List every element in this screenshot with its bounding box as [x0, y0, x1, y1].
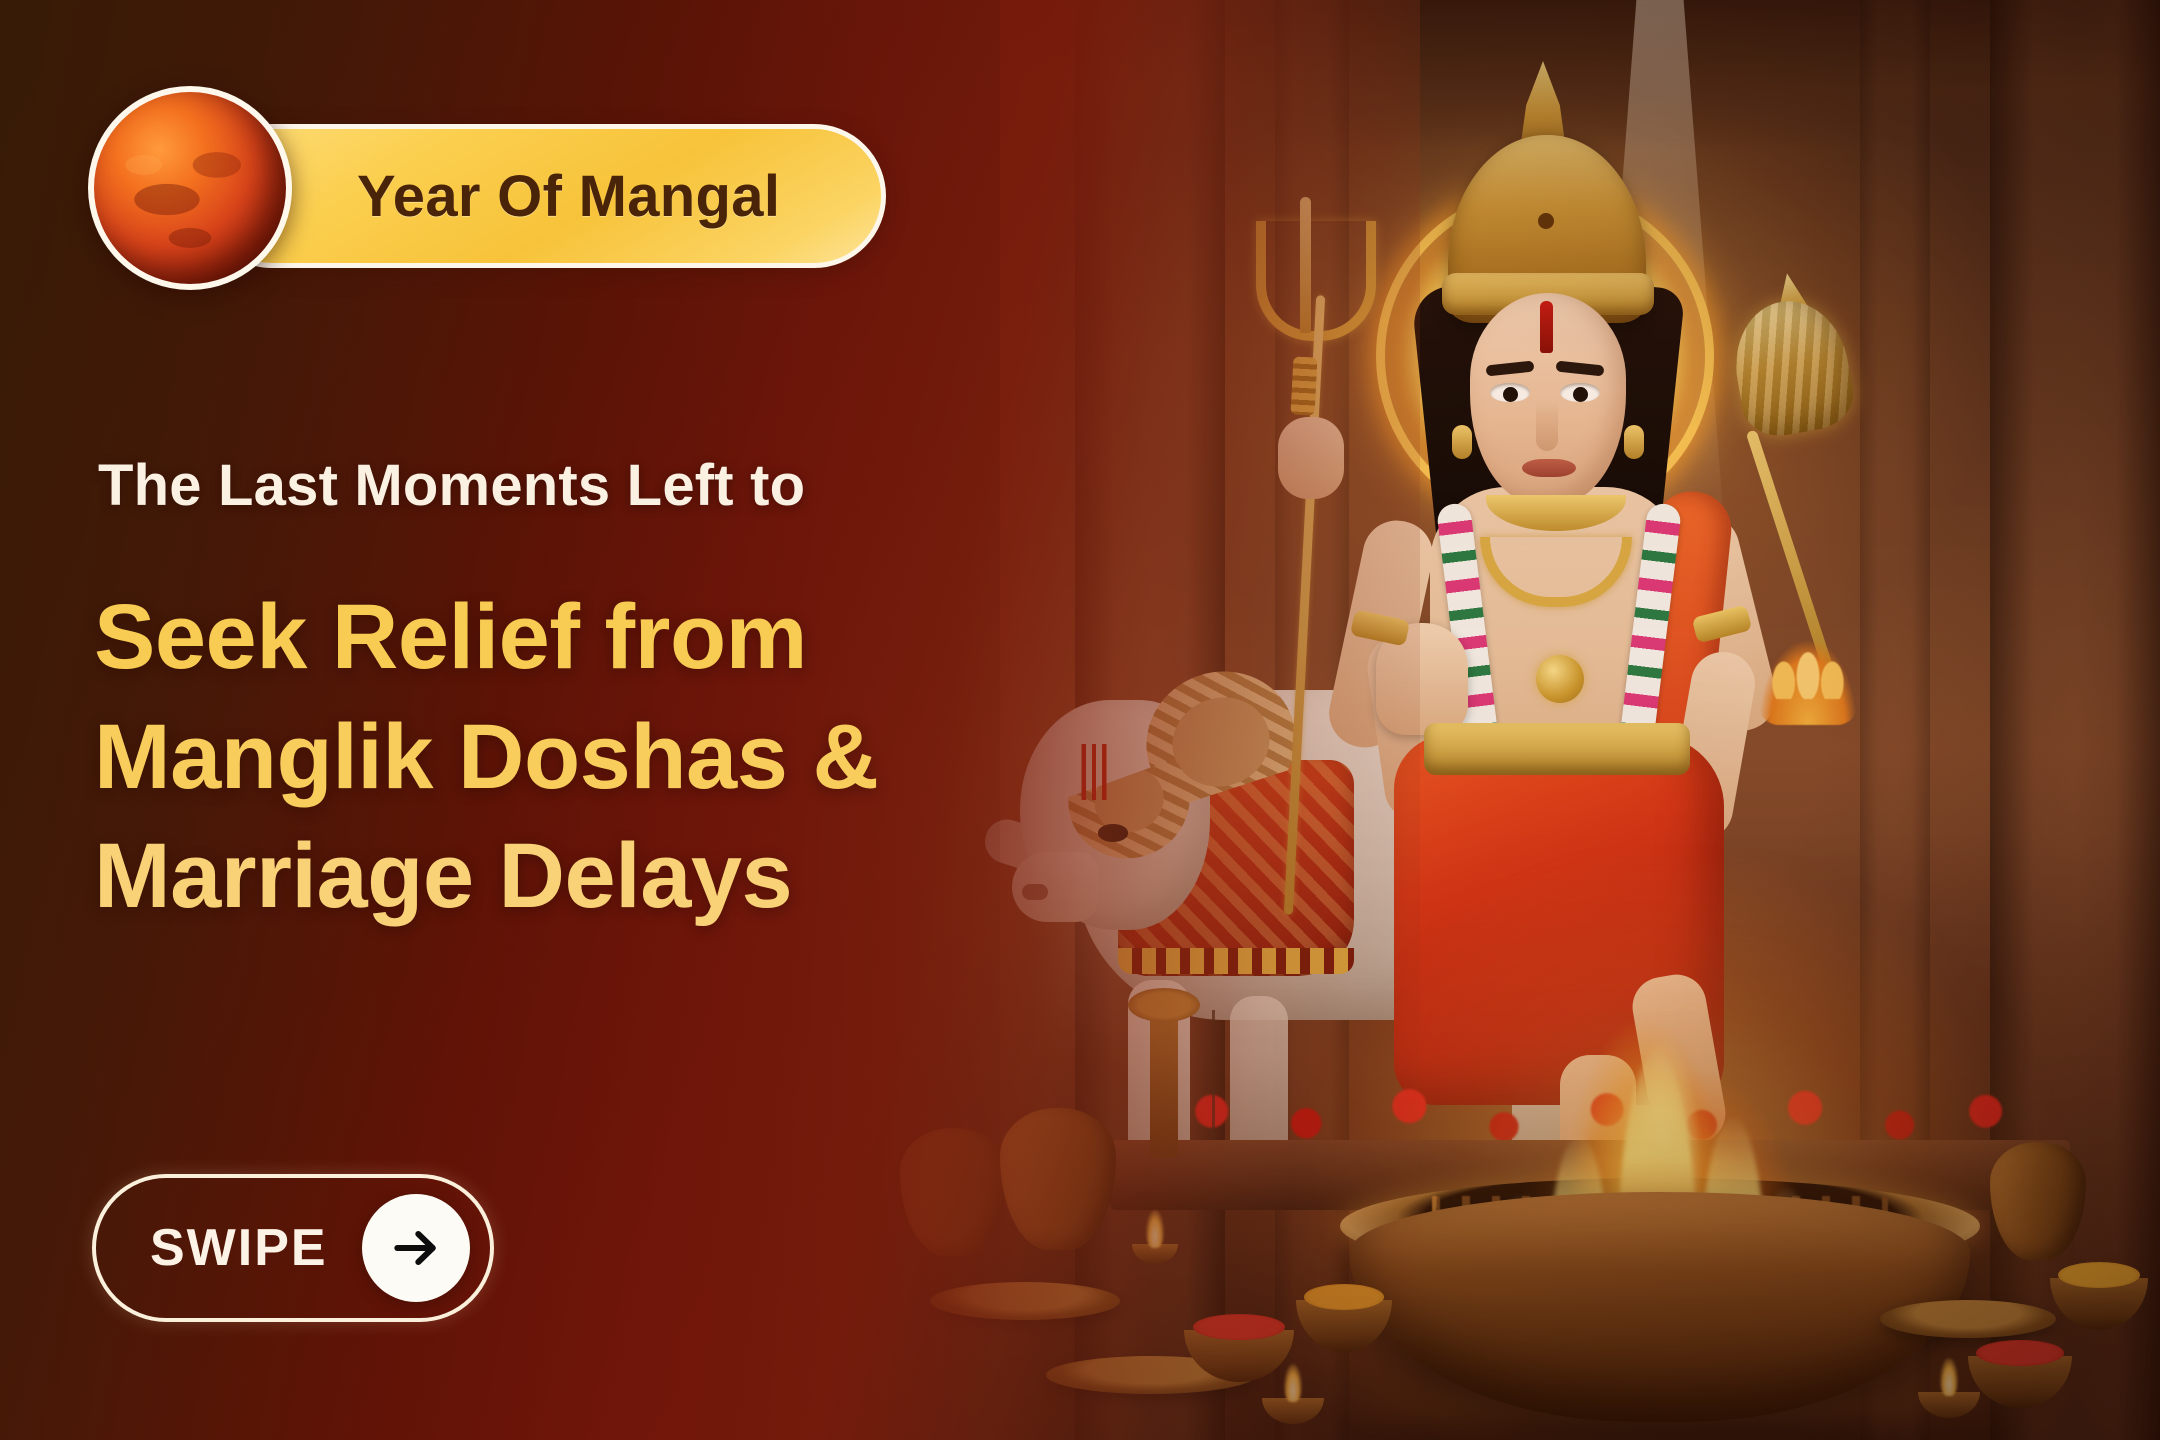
brand-badge[interactable]: Year Of Mangal	[88, 86, 888, 306]
kicker-text: The Last Moments Left to	[98, 452, 805, 519]
page-title: Seek Relief from Manglik Doshas & Marria…	[94, 578, 1094, 937]
swipe-button[interactable]: SWIPE	[92, 1174, 494, 1322]
arrow-right-icon	[388, 1220, 444, 1276]
headline-line-2: Manglik Doshas &	[94, 698, 1094, 818]
banner-content: Year Of Mangal The Last Moments Left to …	[0, 0, 2160, 1440]
badge-label: Year Of Mangal	[357, 163, 780, 230]
badge-pill[interactable]: Year Of Mangal	[200, 124, 886, 268]
swipe-button-label: SWIPE	[150, 1218, 328, 1278]
headline-line-1: Seek Relief from	[94, 578, 1094, 698]
promo-banner: Year Of Mangal The Last Moments Left to …	[0, 0, 2160, 1440]
headline-line-3: Marriage Delays	[94, 817, 1094, 937]
mars-planet-icon	[88, 86, 292, 290]
swipe-arrow-circle[interactable]	[362, 1194, 470, 1302]
